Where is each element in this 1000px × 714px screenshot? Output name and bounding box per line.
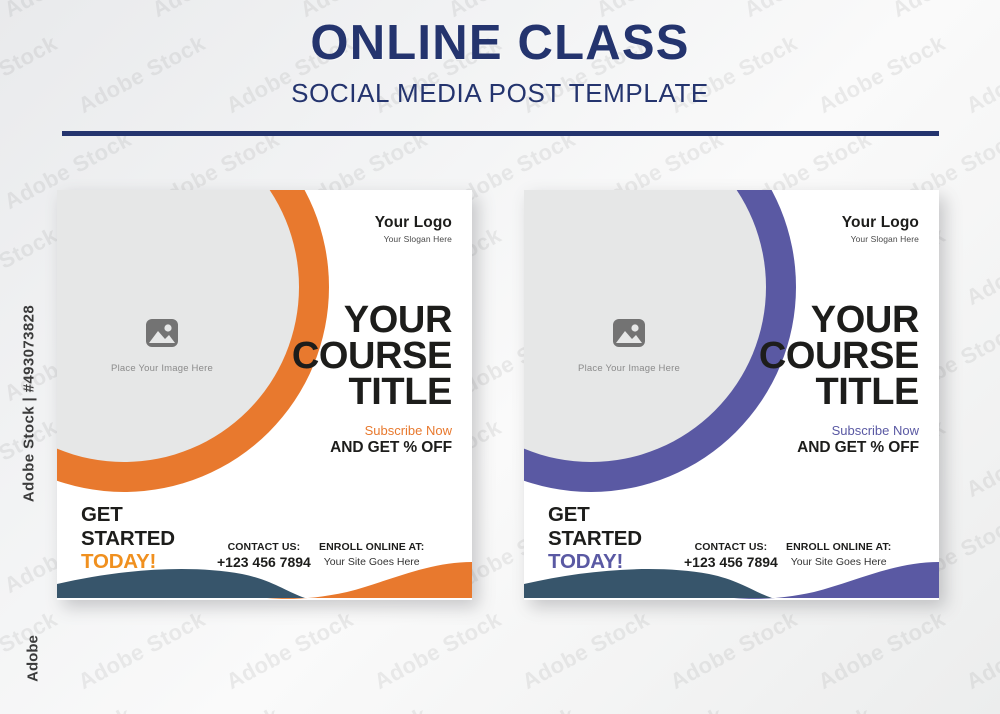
course-title-line-1: YOUR: [759, 302, 919, 338]
watermark-text: Adobe Stock: [74, 606, 210, 695]
get-started-line-1: GET: [548, 505, 642, 526]
header: ONLINE CLASS SOCIAL MEDIA POST TEMPLATE: [0, 18, 1000, 109]
watermark-text: Adobe Stock: [370, 606, 506, 695]
page-title: ONLINE CLASS: [0, 18, 1000, 69]
watermark-text: Adobe Stock: [962, 606, 1000, 695]
get-started-line-2: STARTED: [81, 529, 175, 550]
subscribe-now-link[interactable]: Subscribe Now: [759, 423, 919, 438]
image-placeholder-label: Place Your Image Here: [554, 363, 704, 374]
adobe-watermark: Adobe: [25, 604, 42, 714]
course-title-block: YOUR COURSE TITLE Subscribe Now AND GET …: [759, 302, 919, 457]
watermark-text: Adobe Stock: [888, 702, 1000, 714]
header-divider: [62, 131, 939, 136]
watermark-text: Adobe Stock: [222, 606, 358, 695]
watermark-text: Adobe Stock: [962, 222, 1000, 311]
poster-canvas: Adobe StockAdobe StockAdobe StockAdobe S…: [0, 0, 1000, 714]
subscribe-now-link[interactable]: Subscribe Now: [292, 423, 452, 438]
image-placeholder[interactable]: Place Your Image Here: [87, 318, 237, 374]
course-title-line-3: TITLE: [292, 374, 452, 410]
offer-text: AND GET % OFF: [292, 439, 452, 457]
page-subtitle: SOCIAL MEDIA POST TEMPLATE: [0, 78, 1000, 109]
watermark-text: Adobe Stock: [518, 606, 654, 695]
course-title-line-2: COURSE: [292, 338, 452, 374]
stock-id-watermark: Adobe Stock | #493073828: [21, 279, 38, 529]
watermark-text: Adobe Stock: [962, 414, 1000, 503]
course-title-line-1: YOUR: [292, 302, 452, 338]
watermark-text: Adobe Stock: [148, 702, 284, 714]
watermark-text: Adobe Stock: [296, 702, 432, 714]
watermark-text: Adobe Stock: [666, 606, 802, 695]
bottom-waves: [57, 548, 472, 600]
get-started-line-1: GET: [81, 505, 175, 526]
post-card-orange[interactable]: Place Your Image Here Your Logo Your Slo…: [57, 190, 472, 600]
get-started-line-2: STARTED: [548, 529, 642, 550]
image-placeholder-icon: [87, 318, 237, 353]
logo-block: Your Logo Your Slogan Here: [375, 214, 452, 244]
course-title-line-3: TITLE: [759, 374, 919, 410]
course-title-line-2: COURSE: [759, 338, 919, 374]
image-placeholder-label: Place Your Image Here: [87, 363, 237, 374]
watermark-text: Adobe Stock: [814, 606, 950, 695]
watermark-text: Adobe Stock: [592, 702, 728, 714]
logo-name: Your Logo: [375, 214, 452, 232]
logo-slogan: Your Slogan Here: [375, 234, 452, 244]
logo-block: Your Logo Your Slogan Here: [842, 214, 919, 244]
bottom-waves: [524, 548, 939, 600]
logo-slogan: Your Slogan Here: [842, 234, 919, 244]
watermark-text: Adobe Stock: [740, 702, 876, 714]
watermark-text: Adobe Stock: [444, 702, 580, 714]
watermark-text: Adobe Stock: [0, 702, 136, 714]
image-placeholder-icon: [554, 318, 704, 353]
post-card-purple[interactable]: Place Your Image Here Your Logo Your Slo…: [524, 190, 939, 600]
image-placeholder[interactable]: Place Your Image Here: [554, 318, 704, 374]
logo-name: Your Logo: [842, 214, 919, 232]
course-title-block: YOUR COURSE TITLE Subscribe Now AND GET …: [292, 302, 452, 457]
offer-text: AND GET % OFF: [759, 439, 919, 457]
